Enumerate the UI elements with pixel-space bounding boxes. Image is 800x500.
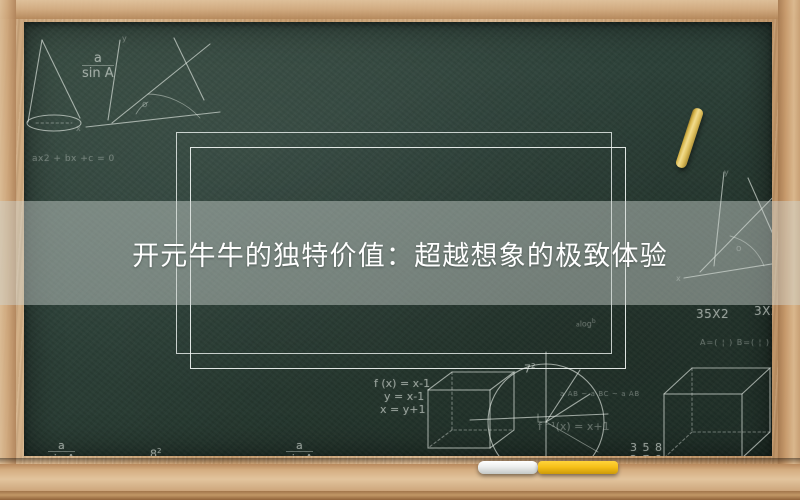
fraction-a-sin-a-1: a sin A xyxy=(82,52,114,81)
power-eight: 82 xyxy=(150,447,161,456)
inverse-function: f ⁻¹(x) = x+1 xyxy=(538,420,610,433)
yellow-chalk-piece xyxy=(538,461,618,474)
cone-drawing xyxy=(27,40,81,131)
page-title: 开元牛牛的独特价值：超越想象的极致体验 xyxy=(132,234,668,273)
addition-problem: 3 5 8 2 7 9 6 3 7 xyxy=(630,442,663,456)
angle-label-1: o xyxy=(142,100,148,110)
function-lines: f (x) = x-1 y = x-1 x = y+1 xyxy=(374,377,430,416)
axis-x-label-1: x xyxy=(76,124,81,133)
fraction-a-sin-a-2: a sin A xyxy=(48,440,75,456)
matrix-dim-35x2: 35X2 xyxy=(696,307,729,321)
white-chalk-piece xyxy=(478,461,538,474)
axis-y-label-2: y xyxy=(724,168,729,177)
chalkboard-banner: a sin A y x o y x o ax2 + bx +c = 0 f (x… xyxy=(0,0,800,500)
cube-drawing-1 xyxy=(428,372,514,448)
fraction-a-sin-a-3: a sin A xyxy=(286,440,313,456)
headline-band: 开元牛牛的独特价值：超越想象的极致体验 xyxy=(0,201,800,305)
cube-drawing-2 xyxy=(664,368,770,456)
axis-y-label-1: y xyxy=(122,34,127,43)
shelf-lip xyxy=(0,491,800,500)
matrix-dim-3x2: 3X2 xyxy=(754,304,772,318)
quadratic-equation: ax2 + bx +c = 0 xyxy=(32,154,115,164)
matrix-row: A=( ¦ ) B=( ¦ ) I=( ¦ ) xyxy=(700,338,772,347)
triangle-similarity: a AB ~ a BC ~ a AB xyxy=(560,390,640,398)
frame-bevel-top xyxy=(0,0,800,19)
